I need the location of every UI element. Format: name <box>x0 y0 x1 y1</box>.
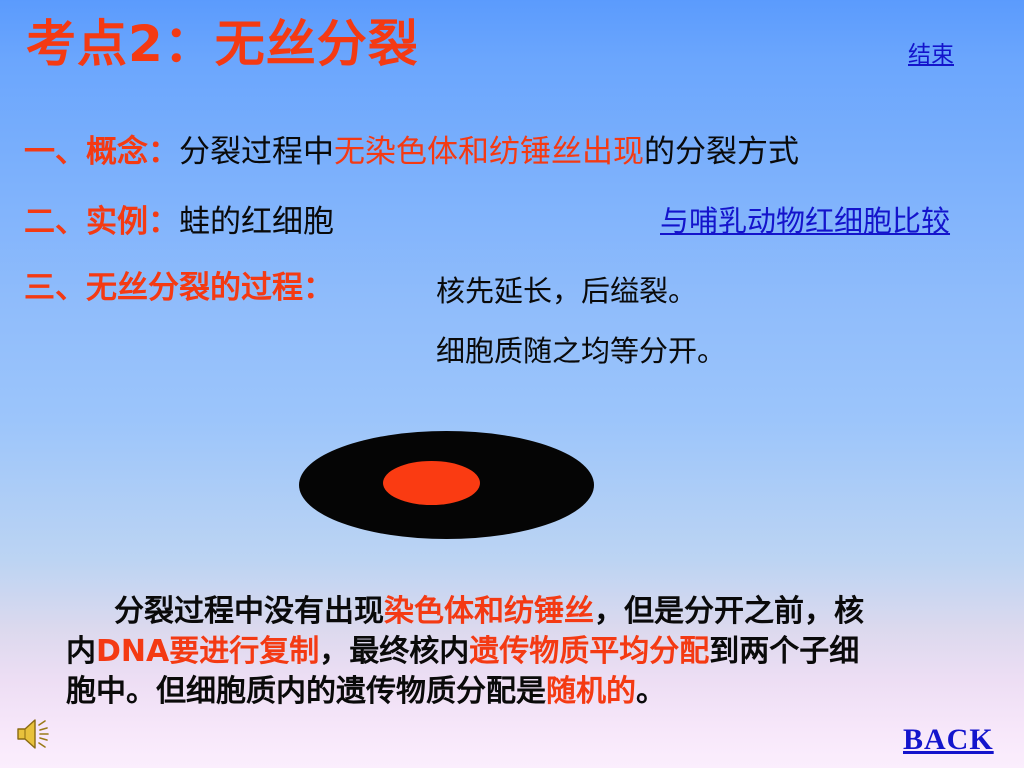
section-example: 二、实例：蛙的红细胞 <box>24 196 334 241</box>
section-example-heading: 二、实例： <box>24 204 179 240</box>
section-concept: 一、概念：分裂过程中无染色体和纺锤丝出现的分裂方式 <box>24 126 799 171</box>
summary-line-3-b: 随机的 <box>546 674 636 709</box>
summary-line-1-c: ，但是分开之前，核 <box>594 594 864 629</box>
cell-diagram <box>299 431 594 539</box>
link-back[interactable]: BACK <box>903 723 994 757</box>
link-end[interactable]: 结束 <box>908 35 954 69</box>
section-concept-heading: 一、概念： <box>24 134 179 170</box>
summary-line-2: 内DNA要进行复制，最终核内遗传物质平均分配到两个子细 <box>66 632 986 672</box>
summary-line-2-a: 内 <box>66 634 96 669</box>
page-title: 考点2：无丝分裂 <box>26 18 419 71</box>
summary-line-2-e: 到两个子细 <box>709 634 859 669</box>
summary-line-3-a: 胞中。但细胞质内的遗传物质分配是 <box>66 674 546 709</box>
section-process-heading: 三、无丝分裂的过程： <box>24 270 334 306</box>
section-example-text: 蛙的红细胞 <box>179 204 334 240</box>
summary-line-3: 胞中。但细胞质内的遗传物质分配是随机的。 <box>66 672 986 712</box>
summary-line-1-b: 染色体和纺锤丝 <box>384 594 594 629</box>
section-concept-text-1: 分裂过程中 <box>179 134 334 170</box>
link-compare-mammal-rbc[interactable]: 与哺乳动物红细胞比较 <box>660 198 950 240</box>
summary-line-1: 分裂过程中没有出现染色体和纺锤丝，但是分开之前，核 <box>66 592 986 632</box>
section-process-step-2: 细胞质随之均等分开。 <box>436 328 726 370</box>
section-process: 三、无丝分裂的过程： <box>24 262 334 307</box>
summary-paragraph: 分裂过程中没有出现染色体和纺锤丝，但是分开之前，核 内DNA要进行复制，最终核内… <box>66 592 986 712</box>
summary-line-1-a: 分裂过程中没有出现 <box>114 594 384 629</box>
summary-line-2-c: ，最终核内 <box>319 634 469 669</box>
section-concept-highlight: 无染色体和纺锤丝出现 <box>334 134 644 170</box>
speaker-icon[interactable] <box>14 716 56 752</box>
cell-nucleus-shape <box>383 461 480 505</box>
summary-line-2-d: 遗传物质平均分配 <box>469 634 709 669</box>
summary-line-3-c: 。 <box>636 674 666 709</box>
slide-canvas: 考点2：无丝分裂 结束 一、概念：分裂过程中无染色体和纺锤丝出现的分裂方式 二、… <box>0 0 1024 768</box>
section-concept-text-2: 的分裂方式 <box>644 134 799 170</box>
section-process-step-1: 核先延长，后缢裂。 <box>436 268 697 310</box>
summary-line-2-b: DNA要进行复制 <box>96 634 319 669</box>
